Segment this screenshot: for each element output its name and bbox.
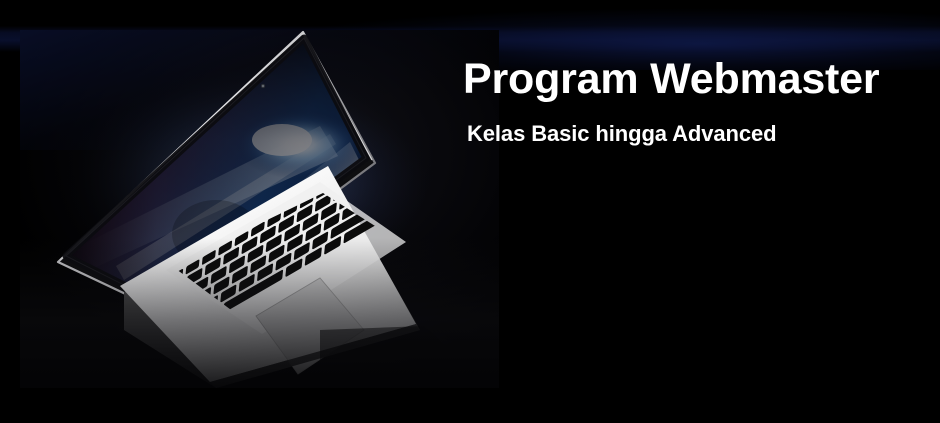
page-title: Program Webmaster bbox=[463, 54, 933, 104]
macbook-pro-illustration bbox=[20, 30, 499, 388]
promo-banner: Program Webmaster Kelas Basic hingga Adv… bbox=[0, 0, 940, 423]
laptop-photo bbox=[20, 30, 499, 388]
top-band-text bbox=[508, 30, 928, 43]
webcam-lens-glint bbox=[262, 85, 264, 87]
laptop-drop-shadow bbox=[320, 326, 450, 360]
page-subtitle: Kelas Basic hingga Advanced bbox=[467, 120, 937, 148]
